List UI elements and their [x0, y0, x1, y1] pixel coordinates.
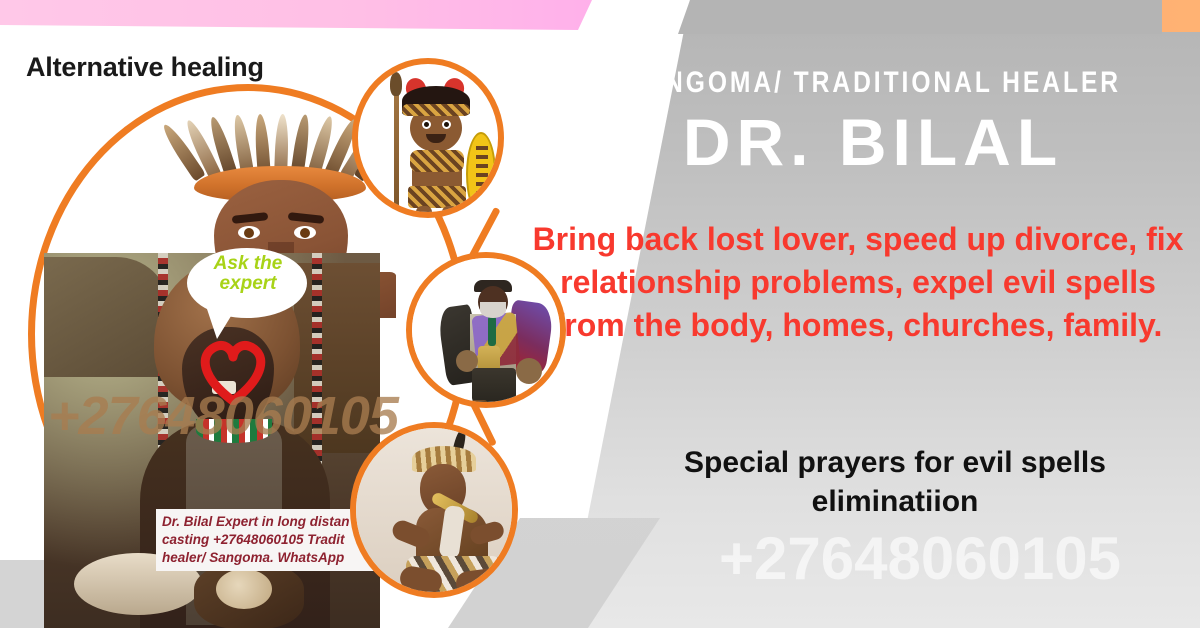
photo-herbs [216, 569, 272, 609]
warrior-eye-left [422, 120, 431, 129]
phone-watermark: +27648060105 [640, 524, 1200, 593]
services-text: Bring back lost lover, speed up divorce,… [528, 218, 1188, 347]
page-title: Alternative healing [26, 52, 264, 83]
spear-head-icon [390, 72, 402, 96]
circle-image-zulu-warrior [352, 58, 504, 218]
warrior-eye-right [442, 120, 451, 129]
necktie [488, 316, 496, 346]
shield-stripes [476, 146, 488, 200]
warrior-skirt [408, 186, 466, 208]
eye-left [238, 226, 260, 239]
warrior-headband [402, 104, 470, 116]
kicker-text: SANGOMA/ TRADITIONAL HEALER [616, 66, 1129, 100]
caption-line-2: casting +27648060105 Tradit [162, 531, 382, 549]
bag-right [516, 358, 542, 384]
special-prayers-text: Special prayers for evil spells eliminat… [600, 443, 1190, 521]
warrior-leg-left [416, 206, 432, 218]
eye-right [294, 226, 316, 239]
beard [480, 302, 506, 318]
caption-line-1: Dr. Bilal Expert in long distan [162, 513, 382, 531]
eyebrow-left [232, 212, 269, 224]
robed-legs [472, 368, 516, 402]
speech-bubble-label: Ask the expert [196, 254, 300, 294]
spear-icon [394, 78, 399, 218]
photo-hut [44, 257, 168, 377]
foot-left [470, 400, 488, 408]
healer-name: DR. BILAL [560, 104, 1186, 180]
poster-canvas: Alternative healing [0, 0, 1200, 628]
circle-image-crouching-warrior [350, 422, 518, 598]
circle-image-robed-healer [406, 252, 566, 408]
warrior-chest-band [410, 150, 464, 172]
caption-line-3: healer/ Sangoma. WhatsApp [162, 549, 382, 567]
eyebrow-right [288, 212, 325, 224]
photo-phone-watermark: +27648060105 [48, 385, 398, 447]
